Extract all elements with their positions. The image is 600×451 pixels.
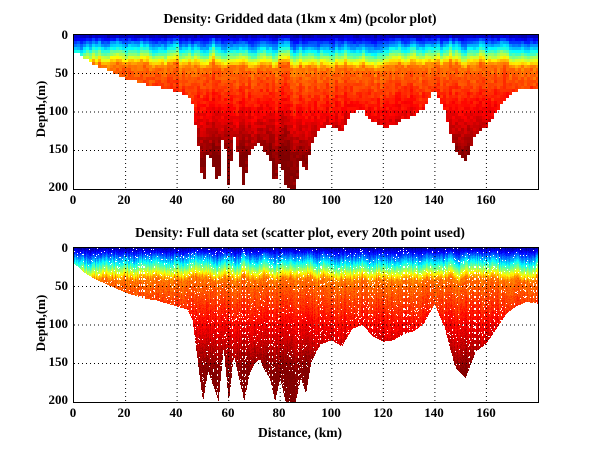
top-ytick-100: 100	[30, 103, 68, 119]
bottom-xtick-100: 100	[314, 405, 348, 421]
top-xtick-80: 80	[263, 192, 295, 208]
bottom-xtick-80: 80	[263, 405, 295, 421]
bottom-ytick-50: 50	[34, 278, 68, 294]
bottom-panel-title: Density: Full data set (scatter plot, ev…	[0, 225, 600, 241]
top-xtick-40: 40	[160, 192, 192, 208]
bottom-xtick-0: 0	[57, 405, 89, 421]
panel-fulldata: Density: Full data set (scatter plot, ev…	[0, 218, 600, 451]
bottom-scatter-image	[74, 248, 538, 402]
bottom-xtick-40: 40	[160, 405, 192, 421]
top-xtick-100: 100	[314, 192, 348, 208]
top-ytick-50: 50	[34, 65, 68, 81]
top-xtick-160: 160	[469, 192, 503, 208]
top-ytick-0: 0	[34, 27, 68, 43]
bottom-ytick-150: 150	[30, 354, 68, 370]
bottom-xtick-160: 160	[469, 405, 503, 421]
top-xtick-0: 0	[57, 192, 89, 208]
top-xtick-140: 140	[417, 192, 451, 208]
bottom-ytick-100: 100	[30, 316, 68, 332]
bottom-xtick-20: 20	[108, 405, 140, 421]
top-xtick-60: 60	[212, 192, 244, 208]
bottom-ytick-0: 0	[34, 240, 68, 256]
top-plot-area	[73, 34, 539, 190]
top-pcolor-image	[74, 35, 538, 189]
bottom-xtick-140: 140	[417, 405, 451, 421]
bottom-panel-xlabel: Distance, (km)	[0, 425, 600, 441]
top-panel-title: Density: Gridded data (1km x 4m) (pcolor…	[0, 11, 600, 27]
top-xtick-20: 20	[108, 192, 140, 208]
bottom-xtick-60: 60	[212, 405, 244, 421]
top-ytick-150: 150	[30, 141, 68, 157]
figure-canvas: Density: Gridded data (1km x 4m) (pcolor…	[0, 0, 600, 451]
bottom-xtick-120: 120	[366, 405, 400, 421]
panel-gridded: Density: Gridded data (1km x 4m) (pcolor…	[0, 4, 600, 214]
top-xtick-120: 120	[366, 192, 400, 208]
bottom-plot-area	[73, 247, 539, 403]
